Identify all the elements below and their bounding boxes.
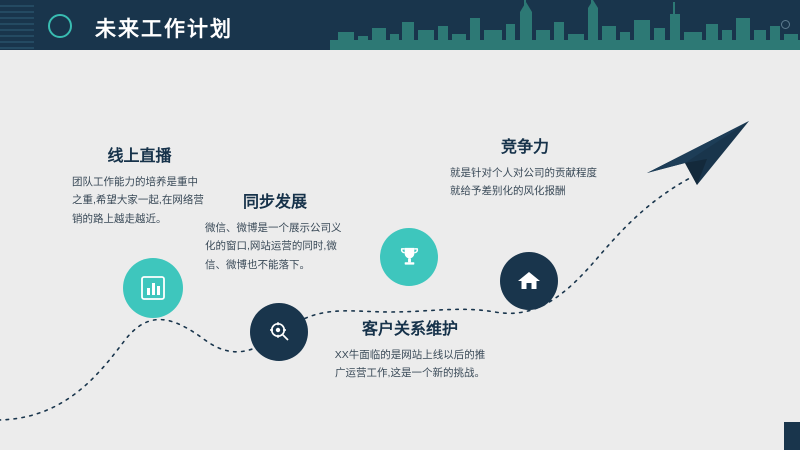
text-block-synchronous-development: 同步发展 微信、微博是一个展示公司义化的窗口,网站运营的同时,微信、微博也不能落…: [205, 188, 345, 274]
node-competitiveness[interactable]: [500, 252, 558, 310]
header-stripes-decoration: [0, 0, 34, 50]
text-block-competitiveness: 竞争力 就是针对个人对公司的贡献程度就给予差别化的风化报酬: [450, 133, 600, 201]
block-body-synchronous-development: 微信、微博是一个展示公司义化的窗口,网站运营的同时,微信、微博也不能落下。: [205, 219, 345, 274]
gear-search-icon: [266, 319, 292, 345]
node-synchronous-development[interactable]: [250, 303, 308, 361]
block-body-customer-relationship: XX牛面临的是网站上线以后的推广运营工作,这是一个新的挑战。: [330, 346, 490, 383]
block-body-competitiveness: 就是针对个人对公司的贡献程度就给予差别化的风化报酬: [450, 164, 600, 201]
slide-canvas: 未来工作计划 线上直播 团队工作能力的培养是重中之重,希望大家一起,在网络营销的…: [0, 0, 800, 450]
slide-header: 未来工作计划: [0, 0, 800, 50]
block-title-competitiveness: 竞争力: [450, 133, 600, 157]
corner-decoration: [784, 422, 800, 450]
circle-outline-icon: [781, 20, 790, 29]
home-icon: [516, 268, 542, 294]
text-block-customer-relationship: 客户关系维护 XX牛面临的是网站上线以后的推广运营工作,这是一个新的挑战。: [330, 315, 490, 383]
header-ring-icon: [48, 14, 72, 38]
page-title: 未来工作计划: [95, 13, 233, 43]
text-block-live-streaming: 线上直播 团队工作能力的培养是重中之重,希望大家一起,在网络营销的路上越走越近。: [72, 142, 207, 228]
block-title-customer-relationship: 客户关系维护: [330, 315, 490, 339]
block-title-live-streaming: 线上直播: [72, 142, 207, 166]
trophy-icon: [397, 245, 422, 270]
node-customer-relationship[interactable]: [380, 228, 438, 286]
city-skyline-icon: [330, 0, 800, 50]
paper-plane-icon: [645, 119, 751, 187]
block-body-live-streaming: 团队工作能力的培养是重中之重,希望大家一起,在网络营销的路上越走越近。: [72, 173, 207, 228]
node-live-streaming[interactable]: [123, 258, 183, 318]
block-title-synchronous-development: 同步发展: [205, 188, 345, 212]
bar-chart-icon: [140, 275, 166, 301]
